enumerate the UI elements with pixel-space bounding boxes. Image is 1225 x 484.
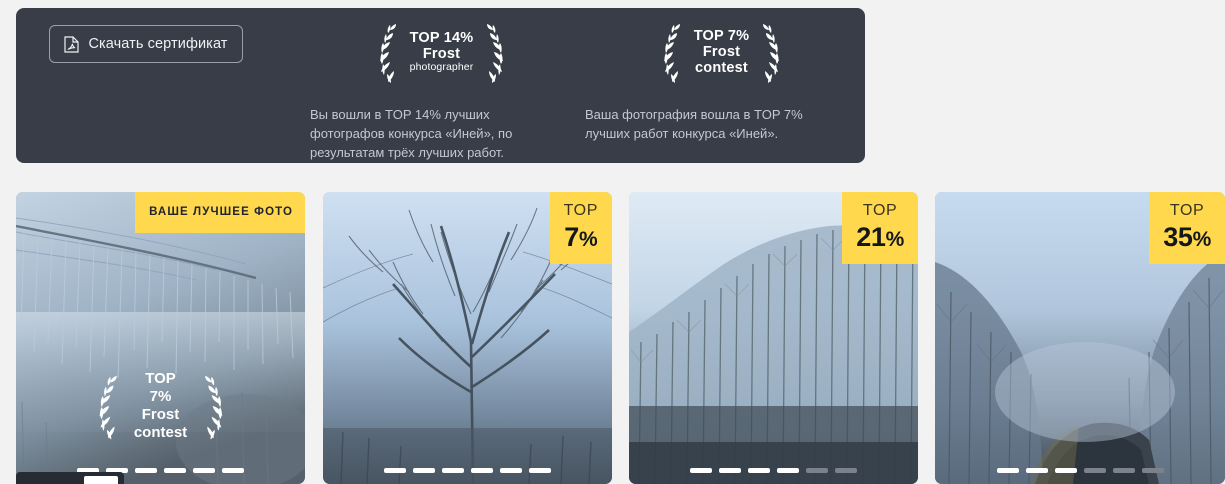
- photo-card-best[interactable]: ВАШЕ ЛУЧШЕЕ ФОТО TOP 7% Frost: [16, 192, 305, 484]
- carousel-dot[interactable]: [1026, 468, 1048, 473]
- top-rank-badge: TOP 35%: [1149, 192, 1225, 264]
- carousel-dot[interactable]: [471, 468, 493, 473]
- carousel-dot[interactable]: [442, 468, 464, 473]
- award-badge-top14: TOP 14% Frost photographer: [304, 8, 579, 163]
- award-line3: photographer: [410, 62, 474, 74]
- award-line1: TOP 7%: [694, 28, 749, 44]
- carousel-dots[interactable]: [323, 468, 612, 473]
- photo-award-overlay: TOP 7% Frost contest: [84, 370, 237, 442]
- carousel-dot[interactable]: [1142, 468, 1164, 473]
- carousel-dot[interactable]: [413, 468, 435, 473]
- photo-card-top-21[interactable]: TOP 21%: [629, 192, 918, 484]
- top-value: 35%: [1163, 224, 1211, 251]
- award-line2: Frost: [410, 46, 474, 62]
- photo-card-top-7[interactable]: TOP 7%: [323, 192, 612, 484]
- carousel-dot[interactable]: [193, 468, 215, 473]
- carousel-dot[interactable]: [529, 468, 551, 473]
- top-word: TOP: [564, 203, 598, 219]
- award-line1: TOP 14%: [410, 30, 474, 46]
- overlay-line2: Frost: [133, 406, 188, 424]
- carousel-dot[interactable]: [719, 468, 741, 473]
- laurel-wreath-icon: TOP 7% Frost contest: [579, 8, 864, 82]
- carousel-dot[interactable]: [135, 468, 157, 473]
- contest-results-page: Скачать сертификат: [0, 0, 1225, 484]
- award-description: Вы вошли в TOP 14% лучших фотографов кон…: [304, 106, 572, 163]
- download-certificate-label: Скачать сертификат: [88, 36, 227, 52]
- carousel-dot[interactable]: [806, 468, 828, 473]
- photo-card-top-35[interactable]: TOP 35%: [935, 192, 1225, 484]
- award-description: Ваша фотография вошла в TOP 7% лучших ра…: [579, 106, 847, 144]
- award-badge-top7: TOP 7% Frost contest: [579, 8, 864, 144]
- carousel-dot[interactable]: [1084, 468, 1106, 473]
- top-value: 21%: [856, 224, 904, 251]
- carousel-dot[interactable]: [500, 468, 522, 473]
- top-rank-badge: TOP 7%: [550, 192, 612, 264]
- top-word: TOP: [1163, 203, 1211, 219]
- photo-card-list: ВАШЕ ЛУЧШЕЕ ФОТО TOP 7% Frost: [16, 192, 1225, 484]
- carousel-dot[interactable]: [384, 468, 406, 473]
- laurel-wreath-icon: [84, 372, 127, 440]
- pdf-file-icon: [64, 36, 79, 53]
- laurel-wreath-icon: [194, 372, 237, 440]
- download-certificate-button[interactable]: Скачать сертификат: [49, 25, 243, 63]
- carousel-dot[interactable]: [777, 468, 799, 473]
- award-line2: Frost: [694, 44, 749, 60]
- carousel-dot[interactable]: [748, 468, 770, 473]
- carousel-dot[interactable]: [1113, 468, 1135, 473]
- top-rank-badge: TOP 21%: [842, 192, 918, 264]
- offscreen-chip: [84, 476, 118, 484]
- carousel-dot[interactable]: [835, 468, 857, 473]
- offscreen-partial-element: [16, 472, 124, 484]
- overlay-line3: contest: [133, 424, 188, 442]
- best-photo-badge: ВАШЕ ЛУЧШЕЕ ФОТО: [135, 192, 305, 233]
- best-photo-label: ВАШЕ ЛУЧШЕЕ ФОТО: [149, 206, 293, 218]
- carousel-dots[interactable]: [935, 468, 1225, 473]
- laurel-wreath-icon: TOP 14% Frost photographer: [304, 8, 579, 82]
- carousel-dot[interactable]: [164, 468, 186, 473]
- overlay-line1: TOP 7%: [133, 370, 188, 406]
- carousel-dot[interactable]: [690, 468, 712, 473]
- top-value: 7%: [564, 224, 598, 251]
- top-word: TOP: [856, 203, 904, 219]
- award-line3: contest: [694, 60, 749, 76]
- awards-summary-panel: Скачать сертификат: [16, 8, 865, 163]
- carousel-dot[interactable]: [997, 468, 1019, 473]
- carousel-dot[interactable]: [1055, 468, 1077, 473]
- carousel-dot[interactable]: [222, 468, 244, 473]
- carousel-dots[interactable]: [629, 468, 918, 473]
